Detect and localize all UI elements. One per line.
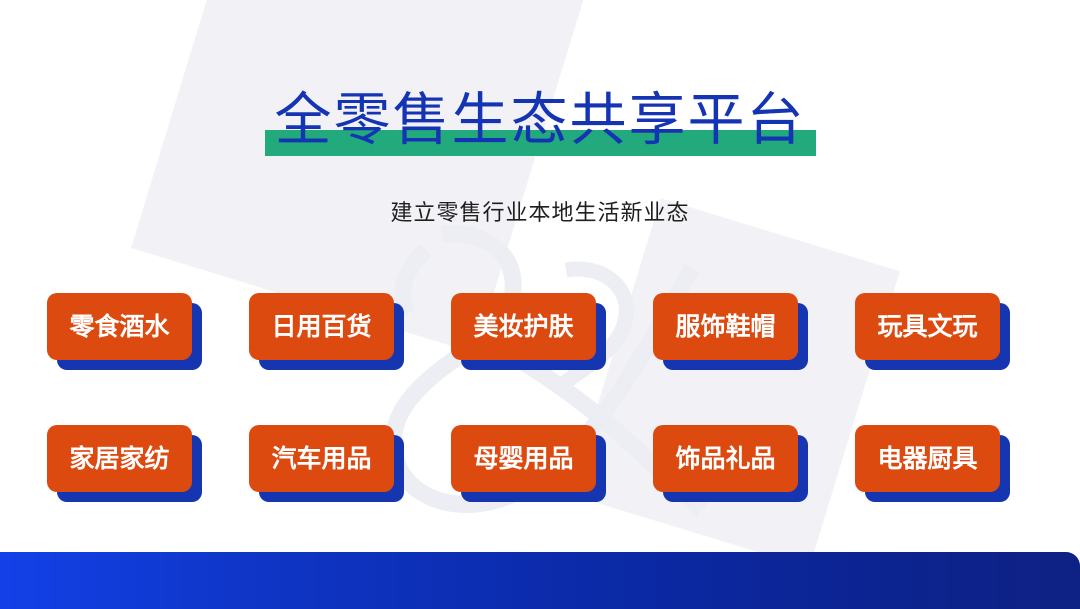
category-chip[interactable]: 电器厨具 xyxy=(855,425,1000,492)
category-chip[interactable]: 母婴用品 xyxy=(451,425,596,492)
chip-face: 汽车用品 xyxy=(249,425,394,492)
title-block: 全零售生态共享平台 xyxy=(0,82,1080,158)
category-chip[interactable]: 汽车用品 xyxy=(249,425,394,492)
category-chip[interactable]: 饰品礼品 xyxy=(653,425,798,492)
category-chip-label: 零食酒水 xyxy=(69,312,169,342)
category-chip-label: 家居家纺 xyxy=(69,444,169,474)
category-chip[interactable]: 零食酒水 xyxy=(47,293,192,360)
category-chip-label: 饰品礼品 xyxy=(675,444,775,474)
chip-face: 玩具文玩 xyxy=(855,293,1000,360)
chip-face: 服饰鞋帽 xyxy=(653,293,798,360)
category-row-2: 家居家纺 汽车用品 母婴用品 饰品礼品 xyxy=(47,425,1033,492)
chip-face: 电器厨具 xyxy=(855,425,1000,492)
category-chip[interactable]: 家居家纺 xyxy=(47,425,192,492)
category-chip-label: 电器厨具 xyxy=(877,444,977,474)
category-chip-label: 汽车用品 xyxy=(271,444,371,474)
category-chip-label: 服饰鞋帽 xyxy=(675,312,775,342)
category-chip[interactable]: 日用百货 xyxy=(249,293,394,360)
title-inner: 全零售生态共享平台 xyxy=(275,82,806,158)
chip-face: 家居家纺 xyxy=(47,425,192,492)
chip-face: 日用百货 xyxy=(249,293,394,360)
chip-face: 母婴用品 xyxy=(451,425,596,492)
bottom-accent-bar xyxy=(0,552,1080,609)
category-chip[interactable]: 服饰鞋帽 xyxy=(653,293,798,360)
category-chip-label: 玩具文玩 xyxy=(877,312,977,342)
category-chip[interactable]: 美妆护肤 xyxy=(451,293,596,360)
category-chip[interactable]: 玩具文玩 xyxy=(855,293,1000,360)
chip-face: 零食酒水 xyxy=(47,293,192,360)
presentation-slide: 全零售生态共享平台 建立零售行业本地生活新业态 零食酒水 日用百货 美妆 xyxy=(0,0,1080,609)
chip-face: 美妆护肤 xyxy=(451,293,596,360)
category-row-1: 零食酒水 日用百货 美妆护肤 服饰鞋帽 xyxy=(47,293,1033,360)
category-chip-label: 美妆护肤 xyxy=(473,312,573,342)
page-title: 全零售生态共享平台 xyxy=(275,87,806,153)
chip-face: 饰品礼品 xyxy=(653,425,798,492)
category-grid: 零食酒水 日用百货 美妆护肤 服饰鞋帽 xyxy=(47,293,1033,492)
category-chip-label: 日用百货 xyxy=(271,312,371,342)
page-subtitle: 建立零售行业本地生活新业态 xyxy=(0,198,1080,230)
category-chip-label: 母婴用品 xyxy=(473,444,573,474)
